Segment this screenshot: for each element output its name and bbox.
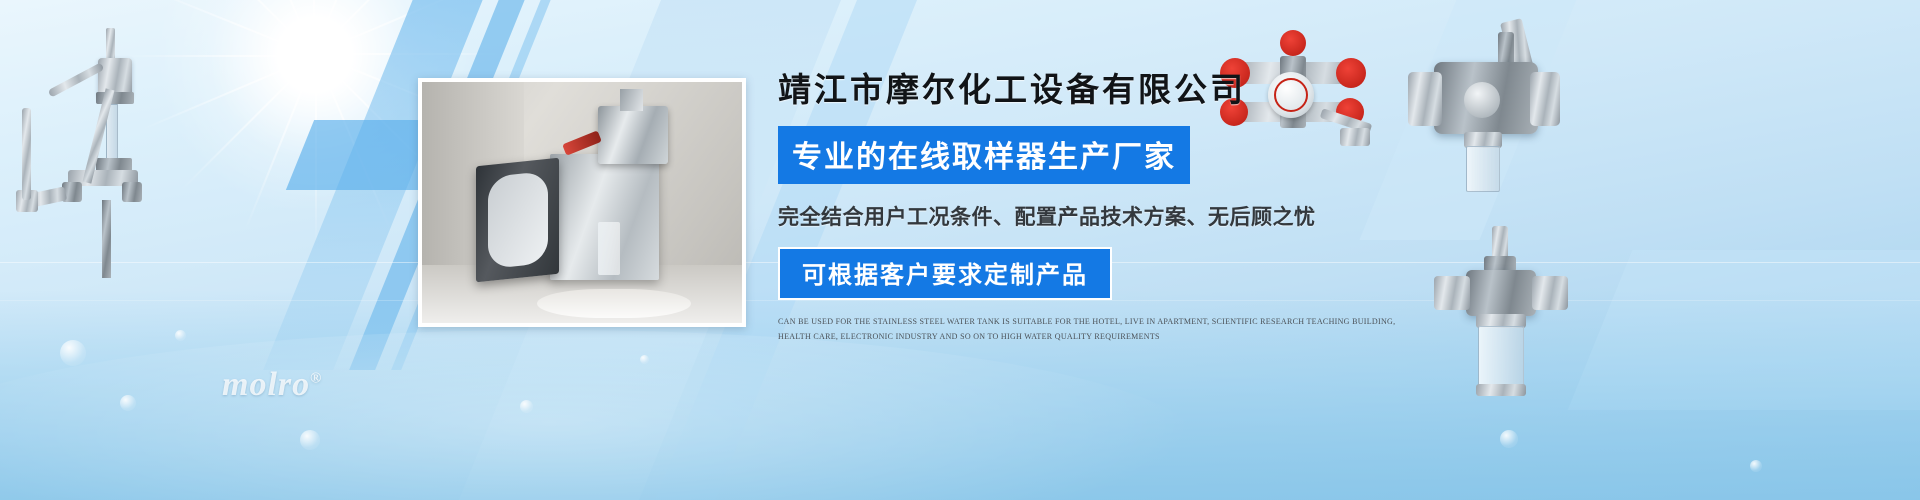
red-handwheel-icon xyxy=(1280,30,1306,56)
registered-mark-icon: ® xyxy=(310,371,322,387)
logo-watermark: molro® xyxy=(222,366,322,404)
bubble-decoration xyxy=(1750,460,1762,472)
product-photo xyxy=(418,78,746,327)
sub-headline: 完全结合用户工况条件、配置产品技术方案、无后顾之忧 xyxy=(778,201,1418,231)
right-equipment-bottom xyxy=(1418,222,1598,412)
bubble-decoration xyxy=(120,395,136,411)
headline-text-block: 靖江市摩尔化工设备有限公司 专业的在线取样器生产厂家 完全结合用户工况条件、配置… xyxy=(778,72,1418,344)
bubble-decoration xyxy=(520,400,533,413)
logo-text: molro xyxy=(222,366,310,403)
promotional-banner: 靖江市摩尔化工设备有限公司 专业的在线取样器生产厂家 完全结合用户工况条件、配置… xyxy=(0,0,1920,500)
callout-highlight-bar: 可根据客户要求定制产品 xyxy=(778,247,1112,300)
company-name: 靖江市摩尔化工设备有限公司 xyxy=(778,72,1418,112)
english-caption: CAN BE USED FOR THE STAINLESS STEEL WATE… xyxy=(778,314,1398,344)
left-equipment-illustration xyxy=(10,30,190,330)
bubble-decoration xyxy=(175,330,186,341)
right-equipment-mid xyxy=(1402,20,1572,210)
bubble-decoration xyxy=(640,355,649,364)
headline-highlight-bar: 专业的在线取样器生产厂家 xyxy=(778,126,1190,184)
bubble-decoration xyxy=(60,340,86,366)
bubble-decoration xyxy=(300,430,320,450)
bubble-decoration xyxy=(1500,430,1518,448)
